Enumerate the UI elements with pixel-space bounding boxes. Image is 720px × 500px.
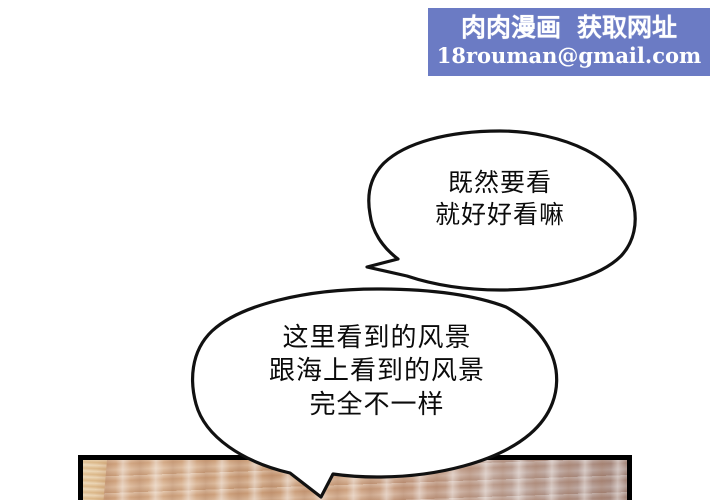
bubble-lower-line-3: 完全不一样	[196, 389, 558, 422]
comic-art-panel	[78, 455, 632, 500]
panel-wood-texture	[83, 460, 627, 500]
bubble-upper-line-2: 就好好看嘛	[367, 199, 633, 231]
bubble-lower-line-1: 这里看到的风景	[196, 322, 558, 355]
watermark-site-name: 肉肉漫画	[461, 15, 561, 41]
speech-bubble-upper-text: 既然要看 就好好看嘛	[367, 167, 633, 231]
watermark-email-address: 18rouman@gmail.com	[437, 44, 701, 67]
watermark-title-row: 肉肉漫画 获取网址	[434, 15, 704, 41]
bubble-upper-line-1: 既然要看	[367, 167, 633, 199]
watermark-cta-text: 获取网址	[577, 15, 677, 41]
panel-left-post	[79, 460, 107, 500]
bubble-lower-line-2: 跟海上看到的风景	[196, 355, 558, 388]
watermark-banner: 肉肉漫画 获取网址 18rouman@gmail.com	[428, 8, 710, 76]
comic-page: 既然要看 就好好看嘛 这里看到的风景 跟海上看到的风景 完全不一样 肉肉漫画 获…	[0, 0, 720, 500]
speech-bubble-lower-text: 这里看到的风景 跟海上看到的风景 完全不一样	[196, 322, 558, 422]
